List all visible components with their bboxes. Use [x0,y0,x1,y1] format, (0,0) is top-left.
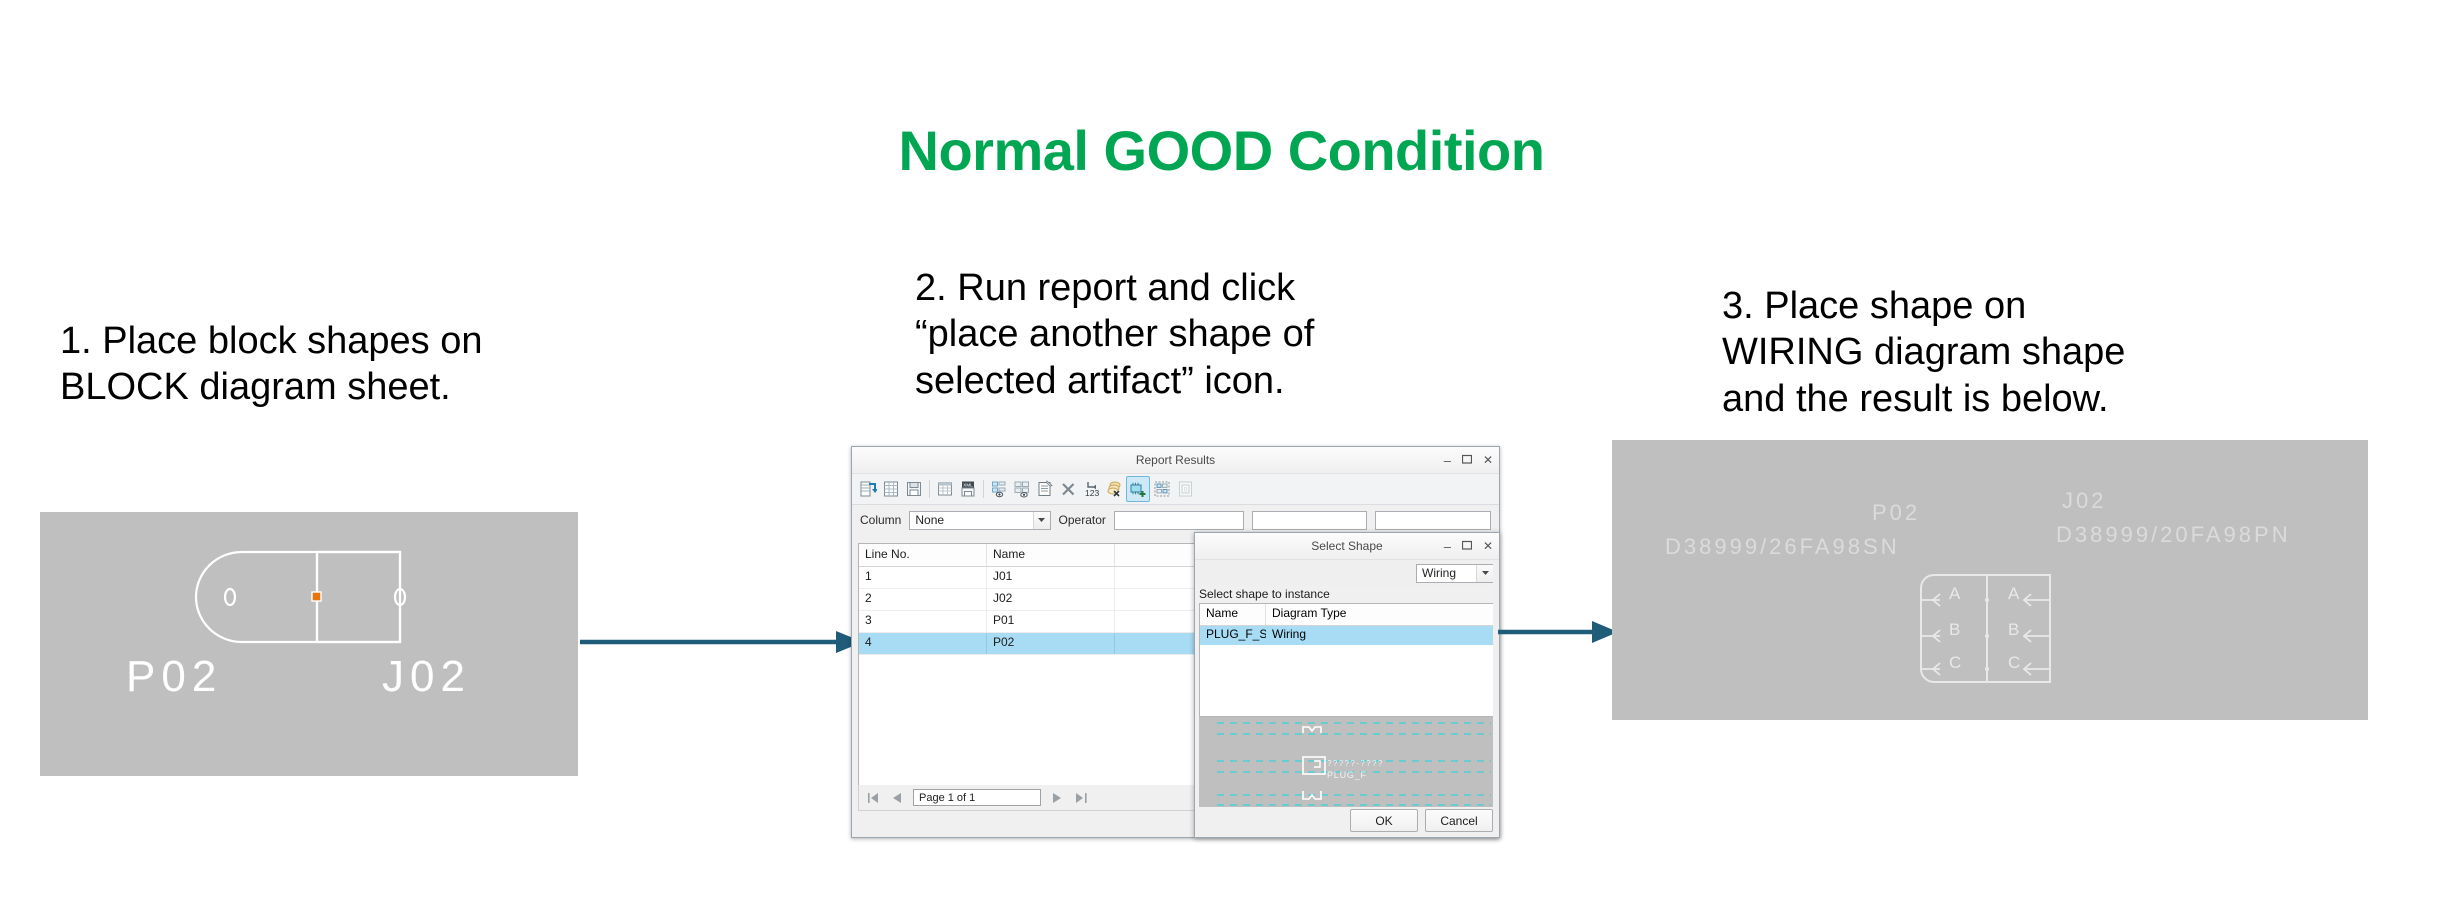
operator-label: Operator [1059,513,1106,527]
page-indicator[interactable]: Page 1 of 1 [913,789,1041,806]
select-shape-dialog-buttons[interactable]: OK Cancel [1350,809,1493,832]
cell-name: J01 [987,567,1115,588]
select-shape-filter-row[interactable]: Wiring [1195,560,1499,586]
block-diagram-panel: P02 J02 [40,512,578,776]
close-icon[interactable]: ✕ [1483,540,1493,552]
show-all-artifacts-icon[interactable] [1011,477,1033,501]
page-title: Normal GOOD Condition [0,118,2443,183]
preview-label-bottom: PLUG_F [1327,770,1367,780]
column-label: Column [860,513,901,527]
report-properties-icon[interactable]: 0 [1174,477,1196,501]
cell-name: J02 [987,589,1115,610]
shape-preview: ?????-???? PLUG_F [1199,717,1495,807]
diagram-type-filter-select[interactable]: Wiring [1416,564,1494,583]
toolbar-separator-2 [983,480,984,498]
chevron-down-icon[interactable] [1033,512,1050,529]
last-page-icon[interactable] [1073,790,1089,806]
report-toolbar[interactable]: XML [852,474,1499,505]
refresh-report-icon[interactable] [857,477,879,501]
arrow-step2-to-step3 [1498,612,1618,652]
minimize-icon[interactable]: – [1444,540,1451,553]
report-window-title: Report Results [852,453,1499,467]
maximize-icon[interactable] [1462,540,1472,552]
wiring-right-partnumber: D38999/20FA98PN [2056,522,2291,548]
maximize-icon[interactable] [1462,454,1472,466]
export-table-icon[interactable] [880,477,902,501]
pin-label-left-c: C [1949,653,1961,673]
save-report-icon[interactable] [903,477,925,501]
replace-artifact-icon[interactable] [1103,477,1125,501]
cell-name: P02 [987,633,1115,654]
show-artifact-icon[interactable] [988,477,1010,501]
operator-input[interactable] [1114,511,1244,530]
step-1-caption: 1. Place block shapes on BLOCK diagram s… [60,318,620,411]
value-input-2[interactable] [1375,511,1491,530]
place-shape-icon[interactable] [1151,477,1173,501]
select-shape-hint: Select shape to instance [1195,586,1499,603]
close-icon[interactable]: ✕ [1483,454,1493,466]
pin-label-right-c: C [2008,653,2020,673]
select-shape-titlebar[interactable]: Select Shape – ✕ [1195,533,1499,560]
svg-text:XML: XML [963,482,973,487]
preview-label-top: ?????-???? [1327,759,1384,768]
select-shape-grid[interactable]: Name Diagram Type PLUG_F_SH Wiring [1199,603,1495,717]
diagram-type-filter-value: Wiring [1422,566,1456,580]
delete-icon[interactable] [1057,477,1079,501]
column-header-line-no[interactable]: Line No. [859,544,987,566]
block-diagram-graphic [40,512,578,776]
pin-label-right-b: B [2008,620,2019,640]
xml-export-icon[interactable]: XML [957,477,979,501]
svg-text:123: 123 [1085,488,1099,498]
left-connector-circle [225,589,235,605]
pin-label-left-a: A [1949,584,1960,604]
value-input-1[interactable] [1252,511,1366,530]
toolbar-separator-1 [929,480,930,498]
wiring-left-partnumber: D38999/26FA98SN [1665,534,1900,560]
minimize-icon[interactable]: – [1444,454,1451,467]
selection-marker [312,592,321,601]
block-right-label: J02 [382,652,471,702]
table-row-selected[interactable]: PLUG_F_SH Wiring [1200,626,1494,645]
arrow-step1-to-step2 [578,622,863,662]
select-shape-grid-header: Name Diagram Type [1200,604,1494,626]
wiring-diagram-graphic [1612,440,2368,720]
pin-label-right-a: A [2008,584,2019,604]
right-block-outline [317,552,400,642]
wiring-right-reference: J02 [2062,488,2106,514]
left-block-outline [196,552,400,642]
excel-export-icon[interactable] [934,477,956,501]
chevron-down-icon[interactable] [1476,565,1493,582]
cell-line-no: 1 [859,567,987,588]
renumber-icon[interactable]: 123 [1080,477,1102,501]
cell-line-no: 2 [859,589,987,610]
pin-label-left-b: B [1949,620,1960,640]
edit-properties-icon[interactable] [1034,477,1056,501]
step-3-caption: 3. Place shape on WIRING diagram shape a… [1722,283,2282,422]
select-shape-vertical-scrollbar[interactable] [1493,561,1499,829]
cell-name: P01 [987,611,1115,632]
ok-button[interactable]: OK [1350,809,1418,832]
column-header-name[interactable]: Name [1200,604,1266,625]
previous-page-icon[interactable] [889,790,905,806]
place-another-shape-of-selected-artifact-icon[interactable] [1126,476,1150,502]
select-shape-window-controls[interactable]: – ✕ [1444,533,1493,559]
cell-shape-name: PLUG_F_SH [1200,626,1266,645]
cell-line-no: 4 [859,633,987,654]
wiring-left-reference: P02 [1872,500,1920,526]
step-2-caption: 2. Run report and click “place another s… [915,265,1475,404]
cell-diagram-type: Wiring [1266,626,1492,645]
first-page-icon[interactable] [865,790,881,806]
column-select-value: None [915,513,944,527]
column-header-diagram-type[interactable]: Diagram Type [1266,604,1492,625]
report-window-titlebar[interactable]: Report Results – ✕ [852,447,1499,474]
report-window-controls[interactable]: – ✕ [1444,447,1493,473]
cancel-button[interactable]: Cancel [1425,809,1493,832]
column-header-name[interactable]: Name [987,544,1115,566]
next-page-icon[interactable] [1049,790,1065,806]
wiring-diagram-panel: A B C A B C P02 D38999/26FA98SN J02 D389… [1612,440,2368,720]
select-shape-dialog[interactable]: Select Shape – ✕ Wiring Select shape to … [1194,532,1500,838]
block-left-label: P02 [126,652,222,702]
cell-line-no: 3 [859,611,987,632]
column-select[interactable]: None [909,511,1050,530]
report-filter-row[interactable]: Column None Operator [852,505,1499,535]
